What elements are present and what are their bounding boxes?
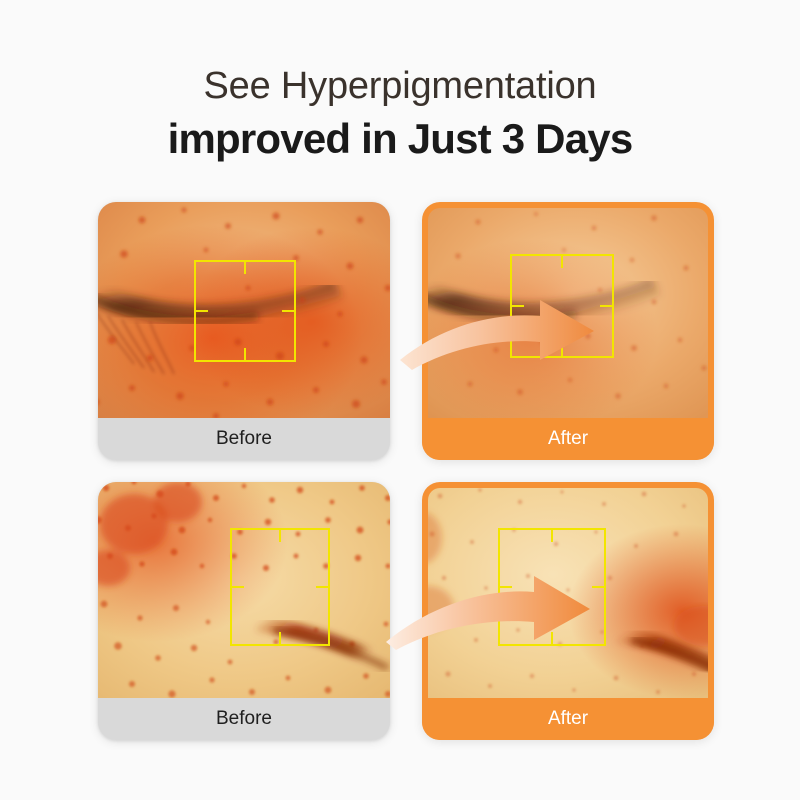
focus-bracket xyxy=(510,254,614,358)
focus-bracket xyxy=(498,528,606,646)
bracket-tick-bottom xyxy=(551,632,553,644)
comparison-card-after-2[interactable]: After xyxy=(422,482,714,740)
bracket-tick-left xyxy=(512,305,524,307)
card-label-after-1: After xyxy=(422,418,714,460)
bracket-tick-right xyxy=(282,310,294,312)
card-label-before-2: Before xyxy=(98,698,390,740)
card-label-after-2: After xyxy=(422,698,714,740)
comparison-card-before-1[interactable]: Before xyxy=(98,202,390,460)
heading-line-1: See Hyperpigmentation xyxy=(0,62,800,110)
bracket-tick-top xyxy=(279,530,281,542)
heading-line-2: improved in Just 3 Days xyxy=(0,112,800,166)
bracket-tick-bottom xyxy=(561,344,563,356)
promo-page: See Hyperpigmentation improved in Just 3… xyxy=(0,0,800,800)
bracket-tick-right xyxy=(592,586,604,588)
bracket-tick-top xyxy=(561,256,563,268)
bracket-tick-bottom xyxy=(244,348,246,360)
bracket-tick-left xyxy=(232,586,244,588)
focus-bracket xyxy=(194,260,296,362)
comparison-card-after-1[interactable]: After xyxy=(422,202,714,460)
bracket-tick-top xyxy=(551,530,553,542)
page-title: See Hyperpigmentation improved in Just 3… xyxy=(0,62,800,166)
bracket-tick-top xyxy=(244,262,246,274)
card-label-before-1: Before xyxy=(98,418,390,460)
bracket-tick-left xyxy=(196,310,208,312)
comparison-card-before-2[interactable]: Before xyxy=(98,482,390,740)
focus-bracket xyxy=(230,528,330,646)
bracket-tick-right xyxy=(600,305,612,307)
bracket-tick-bottom xyxy=(279,632,281,644)
bracket-tick-left xyxy=(500,586,512,588)
comparison-grid: Before xyxy=(98,202,702,740)
bracket-tick-right xyxy=(316,586,328,588)
